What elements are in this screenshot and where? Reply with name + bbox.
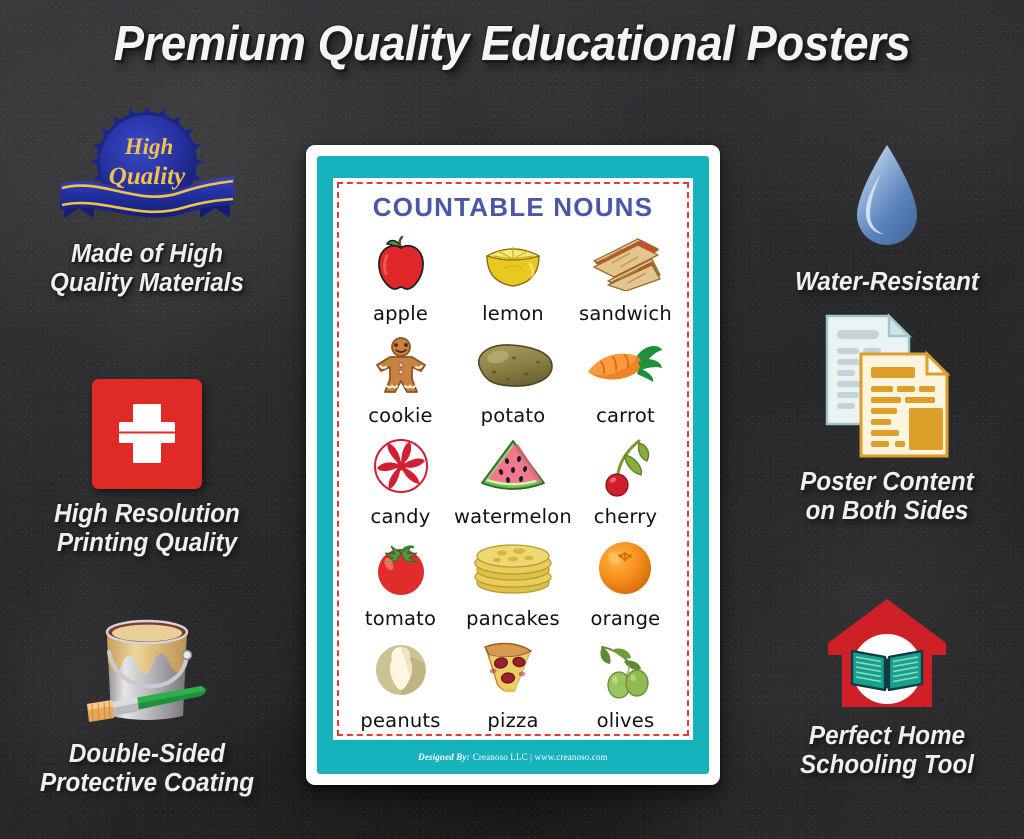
water-drop-icon bbox=[758, 136, 1016, 268]
documents-svg bbox=[805, 304, 969, 464]
noun-label: cherry bbox=[594, 505, 658, 528]
feature-poster-content-on-both-sides: Poster Content on Both Sides bbox=[758, 300, 1016, 526]
sandwich-illustration bbox=[572, 225, 679, 301]
pancakes-illustration bbox=[454, 530, 572, 606]
noun-label: apple bbox=[373, 302, 428, 325]
noun-label: olives bbox=[597, 709, 655, 732]
feature-label: Double-Sided Protective Coating bbox=[24, 740, 269, 798]
feature-label: Perfect Home Schooling Tool bbox=[764, 722, 1009, 780]
badge-line1: High bbox=[124, 134, 174, 159]
noun-item-carrot: carrot bbox=[572, 327, 679, 429]
peppermint-candy-illustration bbox=[347, 429, 454, 505]
noun-item-olives: olives bbox=[572, 632, 679, 734]
feature-label: Made of High Quality Materials bbox=[24, 240, 269, 298]
noun-label: peanuts bbox=[360, 709, 440, 732]
orange-illustration bbox=[572, 530, 679, 606]
house-book-icon bbox=[758, 590, 1016, 722]
tomato-illustration bbox=[347, 530, 454, 606]
poster-heading: COUNTABLE NOUNS bbox=[341, 192, 685, 223]
noun-label: orange bbox=[591, 607, 661, 630]
gingerbread-cookie-illustration bbox=[347, 327, 454, 403]
noun-item-pizza: pizza bbox=[454, 632, 572, 734]
peanut-illustration bbox=[347, 632, 454, 708]
house-book-svg bbox=[822, 593, 952, 719]
noun-item-candy: candy bbox=[347, 429, 454, 531]
paint-can-brush-icon bbox=[18, 608, 276, 740]
noun-label: pizza bbox=[487, 709, 538, 732]
noun-item-watermelon: watermelon bbox=[454, 429, 572, 531]
noun-item-peanuts: peanuts bbox=[347, 632, 454, 734]
noun-item-tomato: tomato bbox=[347, 530, 454, 632]
carrot-illustration bbox=[572, 327, 679, 403]
page-title: Premium Quality Educational Posters bbox=[36, 16, 988, 72]
water-drop-svg bbox=[841, 139, 933, 265]
potato-illustration bbox=[454, 327, 572, 403]
noun-label: sandwich bbox=[579, 302, 672, 325]
noun-item-lemon: lemon bbox=[454, 225, 572, 327]
poster-sheet: COUNTABLE NOUNS apple bbox=[333, 178, 693, 740]
poster-credit: Designed By: Creanoso LLC | www.creanoso… bbox=[333, 740, 693, 774]
countable-nouns-grid: apple bbox=[341, 225, 685, 734]
poster-preview[interactable]: COUNTABLE NOUNS apple bbox=[306, 145, 720, 785]
printer-glyph bbox=[113, 401, 181, 467]
noun-item-sandwich: sandwich bbox=[572, 225, 679, 327]
printer-icon-tile bbox=[92, 379, 202, 489]
olives-illustration bbox=[572, 632, 679, 708]
feature-double-sided-protective-coating: Double-Sided Protective Coating bbox=[18, 608, 276, 798]
high-quality-badge-svg: High Quality bbox=[42, 108, 252, 240]
watermelon-illustration bbox=[454, 429, 572, 505]
credit-lead: Designed By: bbox=[418, 752, 470, 762]
noun-label: lemon bbox=[482, 302, 544, 325]
noun-item-pancakes: pancakes bbox=[454, 530, 572, 632]
feature-label: Water-Resistant bbox=[764, 268, 1009, 297]
noun-label: candy bbox=[371, 505, 431, 528]
noun-item-apple: apple bbox=[347, 225, 454, 327]
noun-item-orange: orange bbox=[572, 530, 679, 632]
lemon-illustration bbox=[454, 225, 572, 301]
noun-label: carrot bbox=[596, 404, 655, 427]
feature-perfect-home-schooling-tool: Perfect Home Schooling Tool bbox=[758, 590, 1016, 780]
credit-text: Creanoso LLC | www.creanoso.com bbox=[473, 752, 608, 762]
documents-icon bbox=[758, 300, 1016, 468]
noun-label: pancakes bbox=[466, 607, 560, 630]
poster-teal-border: COUNTABLE NOUNS apple bbox=[317, 156, 709, 774]
feature-water-resistant: Water-Resistant bbox=[758, 136, 1016, 297]
apple-illustration bbox=[347, 225, 454, 301]
feature-high-resolution-printing-quality: High Resolution Printing Quality bbox=[18, 368, 276, 558]
feature-made-of-high-quality-materials: High Quality Made of High Quality Materi… bbox=[18, 108, 276, 298]
high-quality-badge-icon: High Quality bbox=[18, 108, 276, 240]
noun-item-cookie: cookie bbox=[347, 327, 454, 429]
noun-label: watermelon bbox=[454, 505, 572, 528]
badge-line2: Quality bbox=[109, 163, 186, 190]
noun-item-cherry: cherry bbox=[572, 429, 679, 531]
noun-item-potato: potato bbox=[454, 327, 572, 429]
pizza-slice-illustration bbox=[454, 632, 572, 708]
feature-label: High Resolution Printing Quality bbox=[24, 500, 269, 558]
paint-can-brush-svg bbox=[73, 612, 221, 736]
noun-label: potato bbox=[481, 404, 546, 427]
noun-label: tomato bbox=[365, 607, 436, 630]
noun-label: cookie bbox=[368, 404, 433, 427]
printer-icon bbox=[18, 368, 276, 500]
cherry-illustration bbox=[572, 429, 679, 505]
feature-label: Poster Content on Both Sides bbox=[764, 468, 1009, 526]
